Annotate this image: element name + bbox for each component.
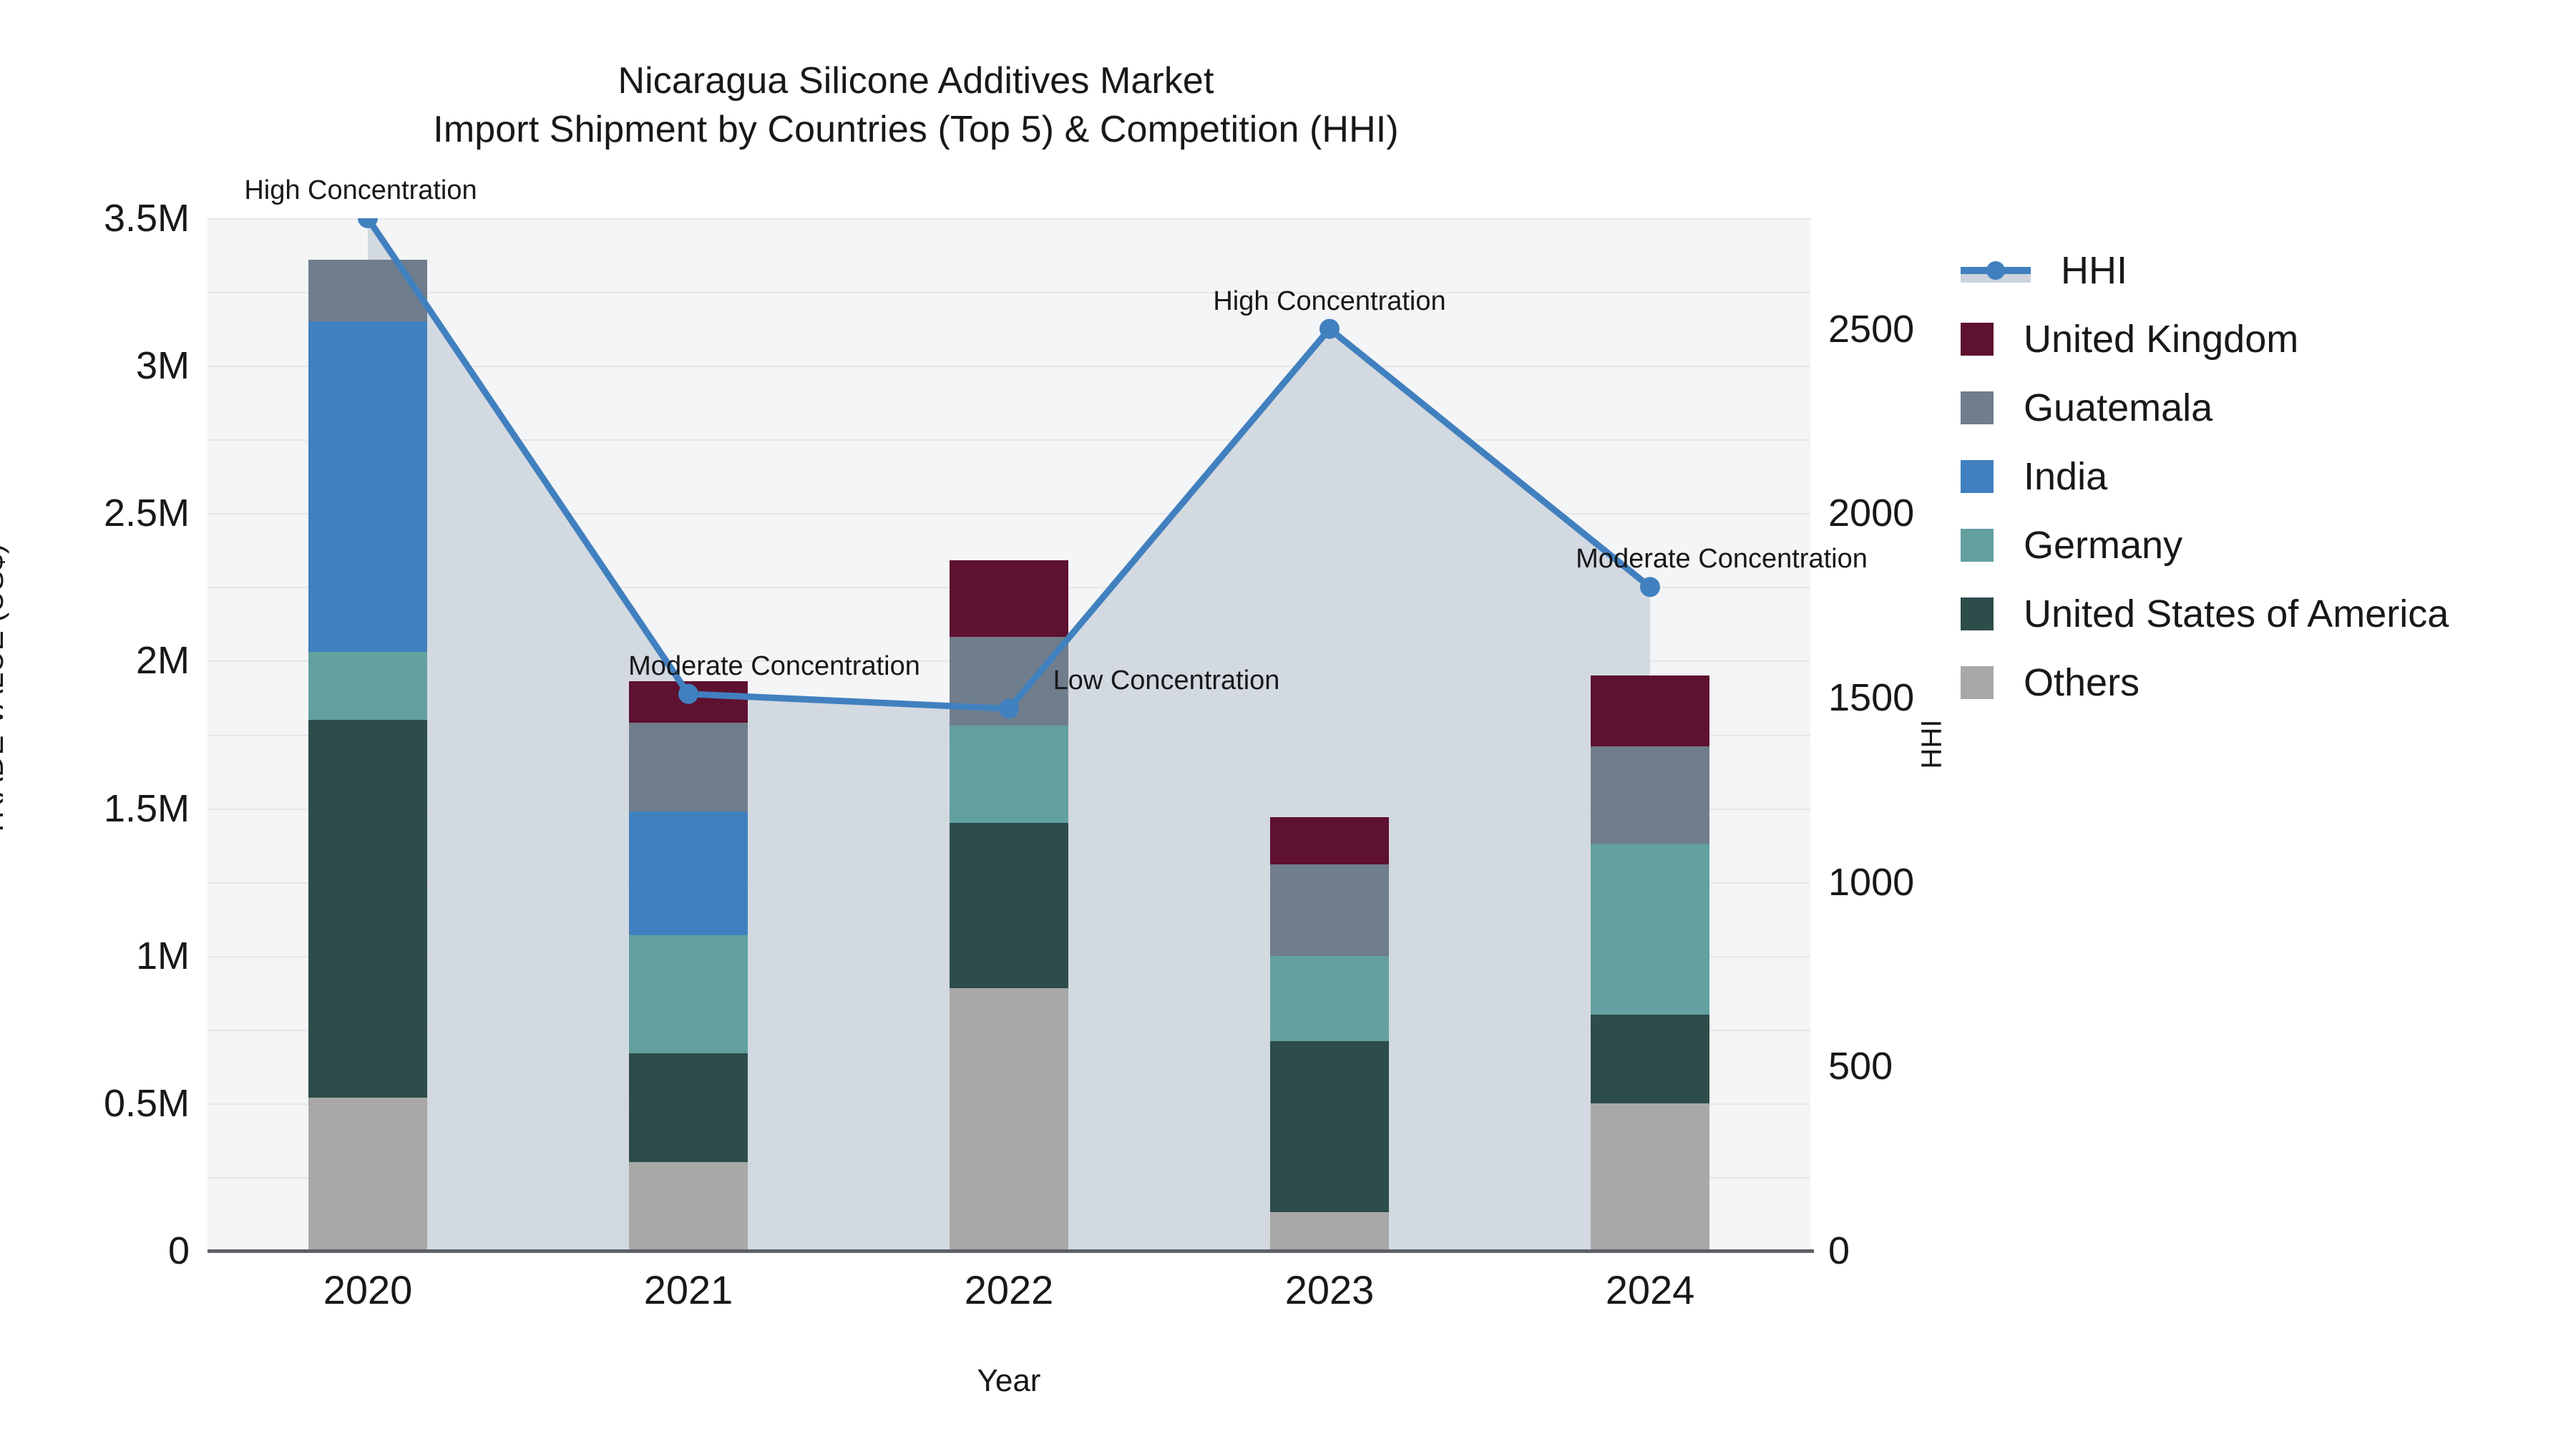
concentration-annotation: Moderate Concentration	[1576, 544, 1868, 575]
y-axis-right-tick-label: 2500	[1828, 307, 1914, 351]
legend-item-united-states-of-america[interactable]: United States of America	[1961, 580, 2562, 648]
y-axis-left-tick-label: 3.5M	[104, 196, 190, 240]
plot-clip	[208, 218, 1810, 1251]
concentration-annotation: Moderate Concentration	[628, 651, 920, 682]
y-axis-left-tick-label: 0.5M	[104, 1081, 190, 1126]
chart-title-line-2: Import Shipment by Countries (Top 5) & C…	[0, 106, 1832, 155]
legend-color-swatch-icon	[1961, 597, 1994, 630]
concentration-annotation: High Concentration	[1213, 286, 1445, 317]
y-axis-right-tick-label: 2000	[1828, 491, 1914, 535]
legend-item-india[interactable]: India	[1961, 442, 2562, 511]
legend-item-united-kingdom[interactable]: United Kingdom	[1961, 305, 2562, 374]
hhi-line-series	[208, 218, 1810, 1251]
x-axis-tick-label: 2022	[965, 1267, 1054, 1313]
x-axis-tick-label: 2021	[644, 1267, 733, 1313]
legend-color-swatch-icon	[1961, 666, 1994, 699]
legend-item-label: HHI	[2061, 251, 2127, 290]
chart-legend: HHIUnited KingdomGuatemalaIndiaGermanyUn…	[1961, 236, 2562, 717]
y-axis-left-tick-label: 3M	[136, 343, 190, 388]
y-axis-right-tick-label: 1000	[1828, 860, 1914, 904]
legend-item-label: Guatemala	[2024, 389, 2212, 427]
legend-item-label: Others	[2024, 663, 2140, 702]
plot-area	[208, 218, 1810, 1251]
y-axis-left-tick-label: 2M	[136, 638, 190, 683]
legend-line-dot	[1986, 261, 2005, 280]
legend-item-others[interactable]: Others	[1961, 648, 2562, 717]
y-axis-right-tick-label: 1500	[1828, 675, 1914, 720]
concentration-annotation: Low Concentration	[1053, 665, 1280, 696]
y-axis-left-tick-label: 2.5M	[104, 491, 190, 535]
y-axis-left-tick-label: 1.5M	[104, 786, 190, 831]
y-axis-left-tick-label: 0	[168, 1229, 190, 1273]
legend-line-marker-icon	[1961, 254, 2031, 287]
chart-title-line-1: Nicaragua Silicone Additives Market	[0, 57, 1832, 106]
y-axis-right-title: HHI	[1916, 720, 1948, 769]
x-axis-title: Year	[977, 1363, 1041, 1399]
y-axis-right-tick-label: 0	[1828, 1229, 1850, 1273]
y-axis-left-tick-label: 1M	[136, 934, 190, 978]
x-axis-tick-label: 2020	[323, 1267, 413, 1313]
legend-color-swatch-icon	[1961, 391, 1994, 424]
legend-item-germany[interactable]: Germany	[1961, 511, 2562, 580]
x-axis-tick-label: 2024	[1606, 1267, 1695, 1313]
y-axis-left-title: TRADE VALUE (US$)	[0, 544, 10, 837]
concentration-annotation: High Concentration	[244, 175, 477, 206]
legend-item-label: Germany	[2024, 526, 2182, 565]
y-axis-right-tick-label: 500	[1828, 1044, 1893, 1088]
legend-item-label: United Kingdom	[2024, 320, 2298, 358]
legend-color-swatch-icon	[1961, 529, 1994, 562]
legend-item-guatemala[interactable]: Guatemala	[1961, 374, 2562, 442]
x-axis-line	[208, 1249, 1814, 1253]
legend-item-label: United States of America	[2024, 595, 2449, 633]
chart-canvas: Nicaragua Silicone Additives Market Impo…	[0, 0, 2576, 1449]
x-axis-tick-label: 2023	[1285, 1267, 1375, 1313]
legend-color-swatch-icon	[1961, 460, 1994, 493]
legend-item-hhi[interactable]: HHI	[1961, 236, 2562, 305]
legend-item-label: India	[2024, 457, 2107, 496]
legend-color-swatch-icon	[1961, 323, 1994, 356]
chart-title-block: Nicaragua Silicone Additives Market Impo…	[0, 57, 1832, 154]
